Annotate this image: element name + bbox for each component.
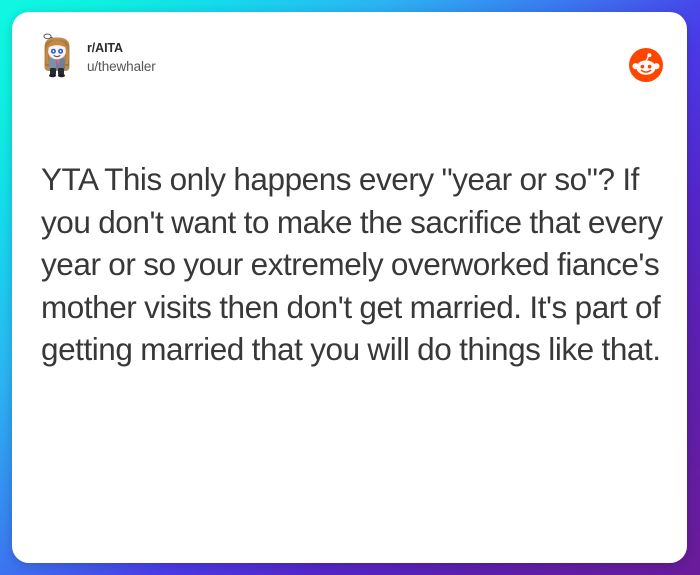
reddit-logo-icon[interactable] xyxy=(629,48,663,82)
snoo-avatar-icon xyxy=(36,33,78,79)
post-author-block: r/AITA u/thewhaler xyxy=(87,41,156,76)
gradient-background: r/AITA u/thewhaler xyxy=(0,0,700,575)
reddit-post-card: r/AITA u/thewhaler xyxy=(12,12,687,563)
username[interactable]: u/thewhaler xyxy=(87,59,156,76)
post-text: YTA This only happens every "year or so"… xyxy=(41,158,669,371)
post-body: YTA This only happens every "year or so"… xyxy=(41,158,669,371)
subreddit-name[interactable]: r/AITA xyxy=(87,41,156,57)
post-header: r/AITA u/thewhaler xyxy=(12,12,687,94)
